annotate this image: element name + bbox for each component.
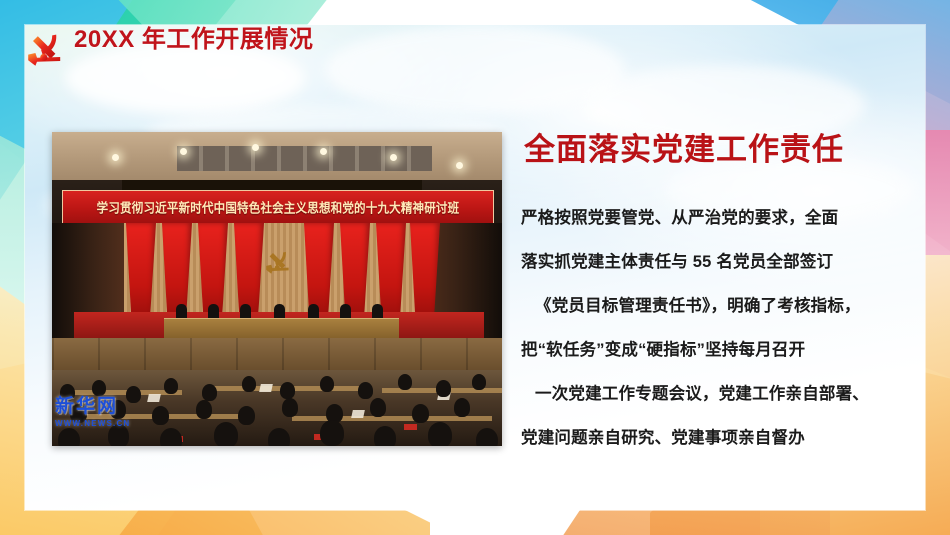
conference-hall-photograph: 学习贯彻习近平新时代中国特色社会主义思想和党的十九大精神研讨班 bbox=[52, 132, 502, 446]
photo-audience-head bbox=[160, 428, 182, 446]
slide-header: 20XX 年工作开展情况 bbox=[25, 24, 385, 69]
page-title: 20XX 年工作开展情况 bbox=[74, 24, 313, 55]
photo-audience-head bbox=[196, 400, 212, 419]
photo-audience-nameplate bbox=[404, 424, 417, 430]
photo-audience-head bbox=[242, 376, 256, 392]
photo-audience-head bbox=[454, 398, 470, 417]
photo-audience-head bbox=[476, 428, 498, 446]
photo-ceiling-light bbox=[112, 154, 119, 161]
photo-audience-head bbox=[58, 428, 80, 446]
photo-audience-head bbox=[320, 376, 334, 392]
photo-ceiling-light bbox=[456, 162, 463, 169]
photo-audience-head bbox=[268, 428, 290, 446]
photo-audience-head bbox=[472, 374, 486, 390]
photo-audience-head bbox=[374, 426, 396, 446]
cpc-hammer-sickle-emblem-icon bbox=[264, 248, 292, 276]
body-line: 党建问题亲自研究、党建事项亲自督办 bbox=[521, 416, 927, 460]
photo-audience-head bbox=[238, 406, 255, 425]
photo-ceiling-light bbox=[252, 144, 259, 151]
photo-watermark-url: WWW.NEWS.CN bbox=[55, 419, 165, 428]
body-line: 严格按照党要管党、从严治党的要求，全面 bbox=[521, 196, 927, 240]
photo-watermark: 新华网 WWW.NEWS.CN bbox=[55, 391, 165, 428]
content-headline: 全面落实党建工作责任 bbox=[524, 132, 924, 168]
photo-stage-front-wall bbox=[52, 338, 502, 370]
photo-audience-head bbox=[280, 382, 295, 399]
photo-audience-head bbox=[412, 404, 429, 423]
photo-ceiling-light bbox=[180, 148, 187, 155]
photo-stage-banner-text: 学习贯彻习近平新时代中国特色社会主义思想和党的十九大精神研讨班 bbox=[97, 199, 460, 217]
body-line: 一次党建工作专题会议，党建工作亲自部署、 bbox=[521, 372, 927, 416]
photo-audience-head bbox=[436, 380, 451, 397]
photo-audience-head bbox=[202, 384, 217, 401]
photo-audience-head bbox=[320, 420, 344, 446]
photo-ceiling-light bbox=[390, 154, 397, 161]
body-line: 落实抓党建主体责任与 55 名党员全部签订 bbox=[521, 240, 927, 284]
photo-audience-paper bbox=[351, 410, 365, 418]
slide-root: 20XX 年工作开展情况 学习贯彻习近平新时代中国特色社会主义思想和党的十九大精… bbox=[0, 0, 950, 535]
photo-ceiling-light bbox=[320, 148, 327, 155]
photo-audience-head bbox=[398, 374, 412, 390]
photo-audience-head bbox=[358, 382, 373, 399]
photo-stage-banner: 学习贯彻习近平新时代中国特色社会主义思想和党的十九大精神研讨班 bbox=[62, 190, 494, 225]
photo-audience-head bbox=[282, 398, 298, 417]
body-line: 把“软任务”变成“硬指标”坚持每月召开 bbox=[521, 328, 927, 372]
photo-audience-paper bbox=[259, 384, 273, 392]
photo-audience-head bbox=[214, 422, 238, 446]
content-body: 严格按照党要管党、从严治党的要求，全面 落实抓党建主体责任与 55 名党员全部签… bbox=[521, 196, 927, 460]
body-line: 《党员目标管理责任书》，明确了考核指标， bbox=[521, 284, 927, 328]
photo-audience-head bbox=[164, 378, 178, 394]
photo-audience-head bbox=[428, 422, 452, 446]
cpc-hammer-sickle-emblem-icon bbox=[25, 29, 65, 69]
photo-watermark-name: 新华网 bbox=[55, 391, 165, 418]
photo-audience-head bbox=[370, 398, 386, 417]
